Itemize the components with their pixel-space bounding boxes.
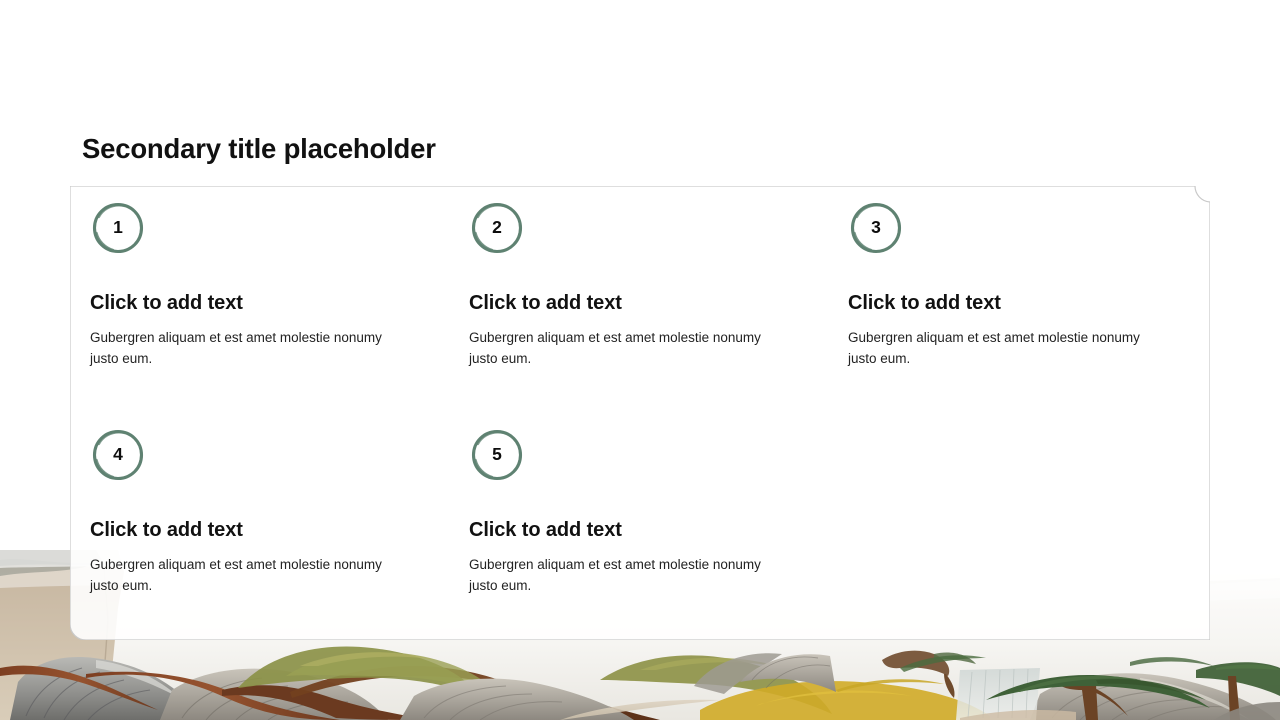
item-body[interactable]: Gubergren aliquam et est amet molestie n…	[90, 327, 382, 369]
item-number: 3	[848, 200, 904, 256]
item-number: 5	[469, 427, 525, 483]
list-item[interactable]: 4 Click to add text Gubergren aliquam et…	[90, 427, 390, 596]
slide-canvas: Secondary title placeholder	[0, 0, 1280, 720]
item-heading[interactable]: Click to add text	[469, 519, 769, 542]
content-card: 1 Click to add text Gubergren aliquam et…	[70, 186, 1210, 640]
list-item[interactable]: 5 Click to add text Gubergren aliquam et…	[469, 427, 769, 596]
item-body[interactable]: Gubergren aliquam et est amet molestie n…	[90, 554, 382, 596]
list-item[interactable]: 3 Click to add text Gubergren aliquam et…	[848, 200, 1148, 369]
item-heading[interactable]: Click to add text	[90, 292, 390, 315]
item-heading[interactable]: Click to add text	[90, 519, 390, 542]
item-heading[interactable]: Click to add text	[848, 292, 1148, 315]
page-title: Secondary title placeholder	[82, 133, 436, 165]
list-item[interactable]: 1 Click to add text Gubergren aliquam et…	[90, 200, 390, 369]
item-body[interactable]: Gubergren aliquam et est amet molestie n…	[469, 327, 761, 369]
number-badge: 1	[90, 200, 146, 256]
item-number: 1	[90, 200, 146, 256]
number-badge: 5	[469, 427, 525, 483]
item-heading[interactable]: Click to add text	[469, 292, 769, 315]
number-badge: 3	[848, 200, 904, 256]
item-number: 4	[90, 427, 146, 483]
number-badge: 2	[469, 200, 525, 256]
number-badge: 4	[90, 427, 146, 483]
item-body[interactable]: Gubergren aliquam et est amet molestie n…	[848, 327, 1140, 369]
list-item[interactable]: 2 Click to add text Gubergren aliquam et…	[469, 200, 769, 369]
item-body[interactable]: Gubergren aliquam et est amet molestie n…	[469, 554, 761, 596]
item-number: 2	[469, 200, 525, 256]
